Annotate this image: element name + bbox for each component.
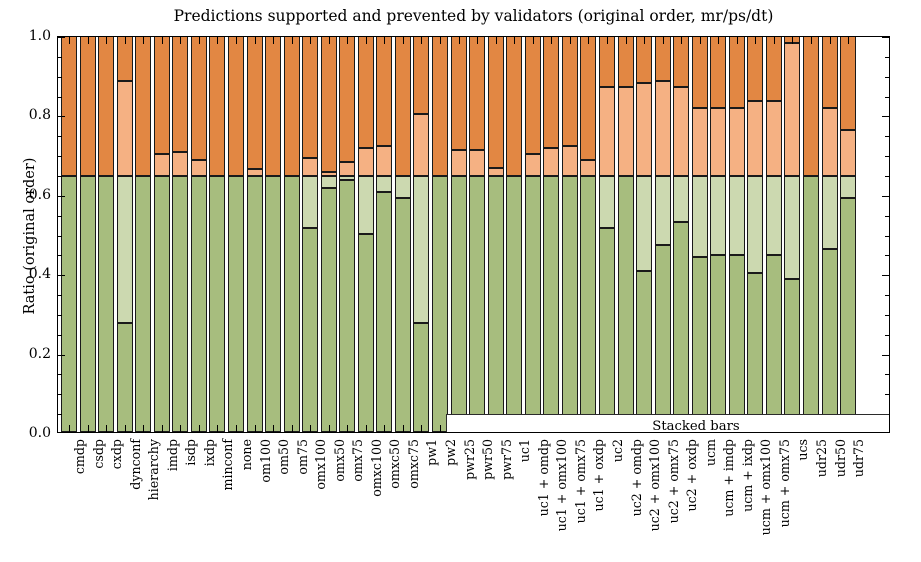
bar-segment-supneg [172, 36, 188, 152]
bar-segment-preneg [784, 43, 800, 176]
bar-uc1-plus-omdp[interactable] [525, 37, 541, 432]
bar-segment-supneg [321, 36, 337, 172]
x-tick-label-text: isdp [184, 439, 197, 466]
bar-segment-preneg [636, 83, 652, 176]
bar-segment-supneg [747, 36, 763, 101]
y-tick-label: 0.2 [9, 347, 51, 361]
bar-pwr50[interactable] [469, 37, 485, 432]
bar-udr75[interactable] [840, 37, 856, 432]
bar-segment-preneg [822, 108, 838, 175]
bar-segment-prepos [729, 176, 745, 255]
y-tick-label: 0.4 [9, 267, 51, 281]
x-tick-label-text: uc2 + omdp [630, 439, 643, 516]
bar-segment-supneg [191, 36, 207, 160]
bar-segment-supneg [376, 36, 392, 146]
bar-segment-suppos [61, 176, 77, 432]
bar-segment-preneg [451, 150, 467, 176]
x-tick-label: uc1 + omdp [537, 437, 550, 514]
bar-dynconf[interactable] [117, 37, 133, 432]
x-tick-label: udr50 [834, 437, 847, 475]
bar-udr50[interactable] [822, 37, 838, 432]
bar-uc2-plus-omdp[interactable] [618, 37, 634, 432]
bar-segment-suppos [506, 176, 522, 432]
bar-segment-suppos [154, 176, 170, 432]
x-tick-label-text: omxc100 [370, 439, 383, 497]
bar-segment-supneg [673, 36, 689, 87]
x-tick-label: pwr75 [500, 437, 513, 478]
bar-omxc75[interactable] [395, 37, 411, 432]
bar-segment-suppos [117, 323, 133, 432]
bar-segment-supneg [784, 36, 800, 43]
bar-segment-supneg [339, 36, 355, 162]
bar-segment-prepos [766, 176, 782, 255]
bar-segment-suppos [747, 273, 763, 432]
bar-segment-prepos [655, 176, 671, 245]
bar-segment-suppos [376, 192, 392, 432]
x-tick-label: om75 [296, 437, 309, 473]
bar-om50[interactable] [265, 37, 281, 432]
bar-segment-preneg [618, 87, 634, 176]
bar-ucs[interactable] [784, 37, 800, 432]
bar-segment-suppos [840, 198, 856, 432]
x-tick-label: uc2 + omdp [630, 437, 643, 514]
x-tick-label: udr75 [852, 437, 865, 475]
bar-segment-suppos [395, 198, 411, 432]
x-tick-label: hierarchy [147, 437, 160, 498]
bar-segment-preneg [673, 87, 689, 176]
bar-segment-preneg [339, 162, 355, 176]
x-tick-label-text: ucm + omx75 [778, 439, 791, 527]
x-tick-label: uc1 [518, 437, 531, 460]
bar-segment-suppos [209, 176, 225, 432]
x-tick-label-text: uc2 + oxdp [685, 439, 698, 512]
bar-segment-suppos [822, 249, 838, 432]
x-tick-label-text: pwr25 [463, 439, 476, 480]
bar-segment-preneg [247, 169, 263, 176]
bar-segment-suppos [339, 180, 355, 432]
bar-segment-preneg [191, 160, 207, 176]
bar-cmdp[interactable] [61, 37, 77, 432]
x-axis-tick-labels: cmdpcsdpcxdpdynconfhierarchyimdpisdpixdp… [57, 437, 890, 562]
bar-segment-suppos [469, 176, 485, 432]
y-tick-label: 0.0 [9, 426, 51, 440]
bar-omxc100[interactable] [358, 37, 374, 432]
bar-omxc50[interactable] [376, 37, 392, 432]
bar-segment-prepos [376, 176, 392, 192]
x-tick-label: udr25 [815, 437, 828, 475]
bar-segment-suppos [803, 176, 819, 432]
bar-omx75[interactable] [339, 37, 355, 432]
x-tick-label: cmdp [73, 437, 86, 472]
legend-title: Stacked bars [447, 419, 890, 433]
bar-segment-supneg [432, 36, 448, 176]
bar-ucm-plus-omx75[interactable] [766, 37, 782, 432]
bar-segment-prepos [710, 176, 726, 255]
bar-segment-preneg [358, 148, 374, 176]
bar-uc1-plus-oxdp[interactable] [580, 37, 596, 432]
bar-ucm-plus-ixdp[interactable] [729, 37, 745, 432]
bar-segment-supneg [692, 36, 708, 108]
x-tick-label: uc2 + omx100 [648, 437, 661, 529]
bar-segment-supneg [710, 36, 726, 108]
x-tick-label-text: uc2 [611, 439, 624, 462]
bar-segment-suppos [488, 176, 504, 432]
x-tick-label-text: uc1 [518, 439, 531, 462]
bar-isdp[interactable] [172, 37, 188, 432]
x-tick-label: pw1 [425, 437, 438, 464]
x-tick-label: ucm [704, 437, 717, 464]
bar-segment-prepos [358, 176, 374, 234]
bar-uc2[interactable] [599, 37, 615, 432]
bar-segment-supneg [488, 36, 504, 168]
x-tick-label-text: hierarchy [147, 439, 160, 500]
bar-omx100[interactable] [302, 37, 318, 432]
x-tick-label-text: imdp [166, 439, 179, 471]
bar-segment-supneg [247, 36, 263, 169]
x-tick-label-text: uc1 + omx75 [574, 439, 587, 523]
x-tick-label-text: ucm [704, 439, 717, 466]
x-tick-label: uc2 + oxdp [685, 437, 698, 510]
x-tick-label: omxc50 [388, 437, 401, 487]
x-tick-label: om100 [259, 437, 272, 481]
bar-uc1[interactable] [506, 37, 522, 432]
bar-segment-suppos [265, 176, 281, 432]
x-tick-label: dynconf [129, 437, 142, 488]
bar-om75[interactable] [284, 37, 300, 432]
bar-ucm-plus-omx100[interactable] [747, 37, 763, 432]
bar-segment-supneg [117, 36, 133, 81]
bar-segment-suppos [228, 176, 244, 432]
x-tick-label: ucm + imdp [722, 437, 735, 515]
x-tick-label-text: pw1 [425, 439, 438, 466]
x-tick-label: om50 [277, 437, 290, 473]
x-tick-label: csdp [92, 437, 105, 467]
x-tick-label-text: om75 [296, 439, 309, 475]
chart-title: Predictions supported and prevented by v… [57, 6, 890, 26]
x-tick-label-text: pw2 [444, 439, 457, 466]
x-tick-label: isdp [184, 437, 197, 464]
x-tick-label-text: uc1 + oxdp [592, 439, 605, 512]
legend: Stacked bars supnegprenegprepossuppos [446, 414, 890, 433]
x-tick-label-text: uc2 + omx75 [667, 439, 680, 523]
x-tick-label-text: ucm + omx100 [759, 439, 772, 535]
x-tick-label-text: csdp [92, 439, 105, 469]
bar-segment-suppos [302, 228, 318, 432]
bar-udr25[interactable] [803, 37, 819, 432]
bar-segment-preneg [154, 154, 170, 176]
bar-segment-prepos [822, 176, 838, 249]
bar-segment-preneg [747, 101, 763, 176]
bar-segment-preneg [469, 150, 485, 176]
bar-segment-preneg [321, 172, 337, 176]
bar-segment-suppos [766, 255, 782, 432]
bar-segment-preneg [302, 158, 318, 176]
x-tick-label-text: ucs [796, 439, 809, 461]
bar-uc2-plus-oxdp[interactable] [673, 37, 689, 432]
bar-segment-supneg [209, 36, 225, 176]
bar-omx50[interactable] [321, 37, 337, 432]
bar-ucm[interactable] [692, 37, 708, 432]
bar-segment-suppos [580, 176, 596, 432]
bar-segment-suppos [729, 255, 745, 432]
bar-pwr25[interactable] [451, 37, 467, 432]
x-tick-label-text: dynconf [129, 439, 142, 490]
bar-pw1[interactable] [413, 37, 429, 432]
x-tick-label-text: ucm + imdp [722, 439, 735, 517]
x-tick-label: omxc100 [370, 437, 383, 495]
bar-segment-supneg [451, 36, 467, 150]
bar-segment-suppos [599, 228, 615, 432]
x-tick-label-text: cmdp [73, 439, 86, 474]
x-tick-label: uc1 + oxdp [592, 437, 605, 510]
bar-segment-preneg [710, 108, 726, 175]
bar-segment-supneg [655, 36, 671, 81]
bar-segment-supneg [284, 36, 300, 176]
x-tick-label: omx100 [314, 437, 327, 488]
bar-segment-prepos [599, 176, 615, 228]
bar-segment-supneg [265, 36, 281, 176]
bar-segment-suppos [432, 176, 448, 432]
bar-cxdp[interactable] [98, 37, 114, 432]
x-tick-label: uc1 + omx75 [574, 437, 587, 521]
bar-segment-supneg [506, 36, 522, 176]
bar-segment-prepos [413, 176, 429, 323]
bar-segment-suppos [636, 271, 652, 432]
bar-segment-supneg [469, 36, 485, 150]
bar-hierarchy[interactable] [135, 37, 151, 432]
bar-segment-supneg [822, 36, 838, 108]
bar-segment-preneg [525, 154, 541, 176]
bar-segment-suppos [172, 176, 188, 432]
bar-segment-preneg [376, 146, 392, 176]
bar-segment-suppos [135, 176, 151, 432]
bar-segment-suppos [80, 176, 96, 432]
bar-segment-prepos [302, 176, 318, 228]
bar-segment-prepos [339, 176, 355, 180]
bar-segment-preneg [413, 114, 429, 176]
x-tick-label: omxc75 [407, 437, 420, 487]
bar-segment-prepos [840, 176, 856, 198]
bar-none[interactable] [228, 37, 244, 432]
x-tick-label-text: uc1 + omdp [537, 439, 550, 516]
bar-segment-suppos [655, 245, 671, 432]
bar-segment-prepos [321, 176, 337, 188]
bar-segment-suppos [543, 176, 559, 432]
figure-canvas: Predictions supported and prevented by v… [0, 0, 921, 562]
x-tick-label-text: udr75 [852, 439, 865, 477]
x-tick-label: pwr50 [481, 437, 494, 478]
bar-segment-supneg [154, 36, 170, 154]
y-tick-label: 0.8 [9, 108, 51, 122]
x-tick-label: ixdp [203, 437, 216, 464]
bar-segment-preneg [117, 81, 133, 176]
x-tick-label-text: om50 [277, 439, 290, 475]
bar-segment-supneg [562, 36, 578, 146]
bar-segment-supneg [358, 36, 374, 148]
bar-segment-suppos [673, 222, 689, 432]
bar-segment-supneg [729, 36, 745, 108]
x-tick-label-text: omxc50 [388, 439, 401, 489]
y-axis-tick-labels: 0.00.20.40.60.81.0 [5, 36, 51, 433]
x-tick-label-text: none [240, 439, 253, 470]
x-tick-label-text: pwr75 [500, 439, 513, 480]
bar-segment-prepos [747, 176, 763, 273]
bar-uc1-plus-omx100[interactable] [543, 37, 559, 432]
bar-segment-suppos [618, 176, 634, 432]
bar-segment-supneg [599, 36, 615, 87]
bar-segment-supneg [840, 36, 856, 130]
x-tick-label-text: cxdp [110, 439, 123, 469]
bar-segment-preneg [840, 130, 856, 176]
bar-imdp[interactable] [154, 37, 170, 432]
x-tick-label: uc2 + omx75 [667, 437, 680, 521]
bar-segment-preneg [766, 101, 782, 176]
bar-segment-supneg [228, 36, 244, 176]
x-tick-label: imdp [166, 437, 179, 469]
bar-pwr75[interactable] [488, 37, 504, 432]
x-tick-label-text: udr50 [834, 439, 847, 477]
bar-segment-suppos [247, 176, 263, 432]
x-tick-label-text: ucm + ixdp [741, 439, 754, 512]
bar-uc2-plus-omx75[interactable] [655, 37, 671, 432]
bar-segment-preneg [543, 148, 559, 176]
x-tick-label: omx75 [351, 437, 364, 480]
bar-segment-suppos [562, 176, 578, 432]
x-tick-label: ucm + omx75 [778, 437, 791, 525]
x-tick-label: ucm + omx100 [759, 437, 772, 533]
bar-segment-preneg [692, 108, 708, 175]
bar-segment-suppos [98, 176, 114, 432]
bar-segment-suppos [784, 279, 800, 432]
bars-layer [58, 37, 889, 432]
bar-uc2-plus-omx100[interactable] [636, 37, 652, 432]
bar-segment-supneg [618, 36, 634, 87]
bar-segment-preneg [729, 108, 745, 175]
bar-segment-supneg [525, 36, 541, 154]
bar-segment-supneg [636, 36, 652, 83]
x-tick-label-text: uc1 + omx100 [555, 439, 568, 531]
x-tick-label: minconf [221, 437, 234, 489]
x-tick-label-text: om100 [259, 439, 272, 483]
bar-segment-prepos [692, 176, 708, 257]
bar-segment-suppos [191, 176, 207, 432]
x-tick-label: ucm + ixdp [741, 437, 754, 510]
x-tick-label-text: omxc75 [407, 439, 420, 489]
bar-segment-supneg [543, 36, 559, 148]
x-tick-label: pw2 [444, 437, 457, 464]
bar-ucm-plus-imdp[interactable] [710, 37, 726, 432]
bar-segment-supneg [302, 36, 318, 158]
x-tick-label: ucs [796, 437, 809, 459]
bar-segment-prepos [117, 176, 133, 323]
bar-segment-suppos [710, 255, 726, 432]
bar-segment-preneg [599, 87, 615, 176]
x-tick-label: pwr25 [463, 437, 476, 478]
x-tick-label-text: uc2 + omx100 [648, 439, 661, 531]
x-tick-label-text: ixdp [203, 439, 216, 466]
bar-segment-suppos [321, 188, 337, 432]
bar-segment-suppos [451, 176, 467, 432]
bar-segment-supneg [413, 36, 429, 114]
bar-segment-supneg [135, 36, 151, 176]
x-tick-label-text: omx75 [351, 439, 364, 482]
bar-uc1-plus-omx75[interactable] [562, 37, 578, 432]
x-tick-label-text: pwr50 [481, 439, 494, 480]
x-tick-label: uc2 [611, 437, 624, 460]
plot-area: Stacked bars supnegprenegprepossuppos [57, 36, 890, 433]
y-tick-label: 1.0 [9, 29, 51, 43]
bar-csdp[interactable] [80, 37, 96, 432]
bar-segment-prepos [673, 176, 689, 222]
bar-om100[interactable] [247, 37, 263, 432]
bar-ixdp[interactable] [191, 37, 207, 432]
bar-segment-preneg [580, 160, 596, 176]
bar-pw2[interactable] [432, 37, 448, 432]
bar-segment-suppos [525, 176, 541, 432]
x-tick-label: uc1 + omx100 [555, 437, 568, 529]
bar-segment-preneg [488, 168, 504, 176]
x-tick-label-text: omx100 [314, 439, 327, 490]
x-tick-label: cxdp [110, 437, 123, 467]
bar-segment-supneg [803, 36, 819, 176]
bar-segment-prepos [395, 176, 411, 198]
bar-segment-suppos [413, 323, 429, 432]
x-tick-label-text: minconf [221, 439, 234, 491]
x-tick-label-text: udr25 [815, 439, 828, 477]
bar-segment-suppos [692, 257, 708, 432]
bar-segment-supneg [98, 36, 114, 176]
bar-segment-suppos [284, 176, 300, 432]
bar-segment-preneg [655, 81, 671, 176]
bar-segment-preneg [172, 152, 188, 176]
bar-segment-supneg [80, 36, 96, 176]
bar-segment-supneg [580, 36, 596, 160]
x-tick-label: none [240, 437, 253, 468]
bar-segment-prepos [636, 176, 652, 271]
x-tick-label-text: omx50 [333, 439, 346, 482]
bar-segment-supneg [395, 36, 411, 176]
bar-minconf[interactable] [209, 37, 225, 432]
bar-segment-prepos [784, 176, 800, 279]
bar-segment-supneg [766, 36, 782, 101]
y-tick-label: 0.6 [9, 188, 51, 202]
bar-segment-suppos [358, 234, 374, 433]
x-tick-label: omx50 [333, 437, 346, 480]
bar-segment-preneg [562, 146, 578, 176]
bar-segment-supneg [61, 36, 77, 176]
